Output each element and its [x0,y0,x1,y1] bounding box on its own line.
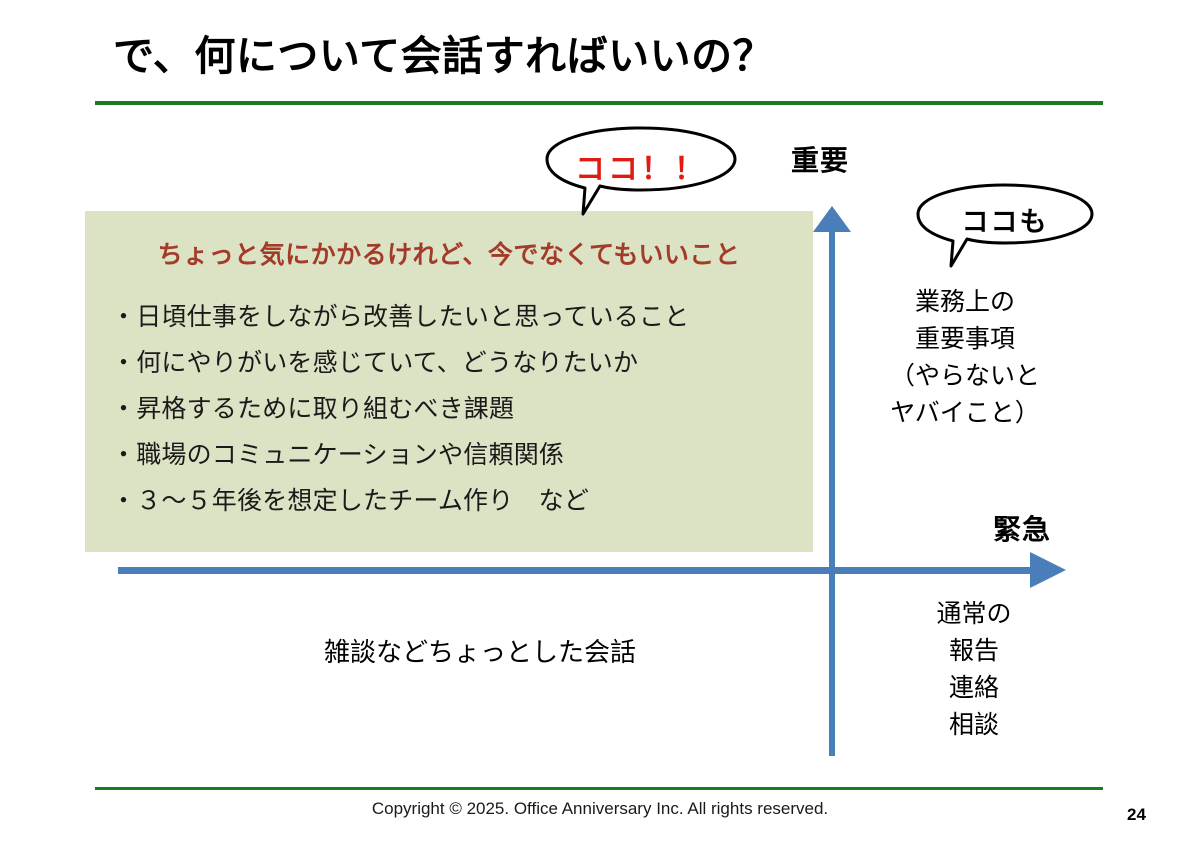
footer-copyright: Copyright © 2025. Office Anniversary Inc… [0,799,1200,819]
footer-page-number: 24 [1127,805,1146,825]
highlight-content-box: ちょっと気にかかるけれど、今でなくてもいいこと ・日頃仕事をしながら改善したいと… [85,211,813,552]
quadrant-line: 重要事項 [846,320,1084,357]
axis-label-urgent: 緊急 [993,508,1051,548]
quadrant-line: ヤバイこと） [846,394,1084,431]
horizontal-axis-line [118,567,1034,574]
quadrant-line: （やらないと [846,357,1084,394]
callout-bubble-kokomo-label: ココも [915,200,1095,239]
quadrant-line: 報告 [855,632,1093,669]
vertical-axis-line [829,228,835,756]
horizontal-axis-arrowhead-icon [1030,552,1066,588]
callout-bubble-kokomo: ココも [915,183,1095,269]
list-item: ・日頃仕事をしながら改善したいと思っていること [111,294,801,340]
quadrant-line: 業務上の [846,283,1084,320]
footer-divider [95,787,1103,790]
quadrant-upper-right-text: 業務上の 重要事項 （やらないと ヤバイこと） [846,283,1084,431]
list-item: ・何にやりがいを感じていて、どうなりたいか [111,340,801,386]
list-item: ・昇格するために取り組むべき課題 [111,386,801,432]
axis-label-important: 重要 [791,139,849,179]
quadrant-lower-right-text: 通常の 報告 連絡 相談 [855,595,1093,743]
box-heading: ちょっと気にかかるけれど、今でなくてもいいこと [103,235,795,271]
callout-bubble-koko-label: ココ！！ [543,144,739,188]
quadrant-lower-left-text: 雑談などちょっとした会話 [160,632,800,669]
box-bullet-list: ・日頃仕事をしながら改善したいと思っていること ・何にやりがいを感じていて、どう… [111,294,801,524]
list-item: ・３〜５年後を想定したチーム作り など [111,478,801,524]
quadrant-line: 連絡 [855,669,1093,706]
vertical-axis-arrowhead-icon [813,206,851,232]
callout-bubble-koko: ココ！！ [543,126,739,218]
slide-canvas: で、何について会話すればいいの？ 重要 緊急 ちょっと気にかかるけれど、今でなく… [0,0,1200,849]
quadrant-line: 相談 [855,706,1093,743]
quadrant-line: 通常の [855,595,1093,632]
title-divider [95,101,1103,105]
list-item: ・職場のコミュニケーションや信頼関係 [111,432,801,478]
page-title: で、何について会話すればいいの？ [113,34,774,79]
